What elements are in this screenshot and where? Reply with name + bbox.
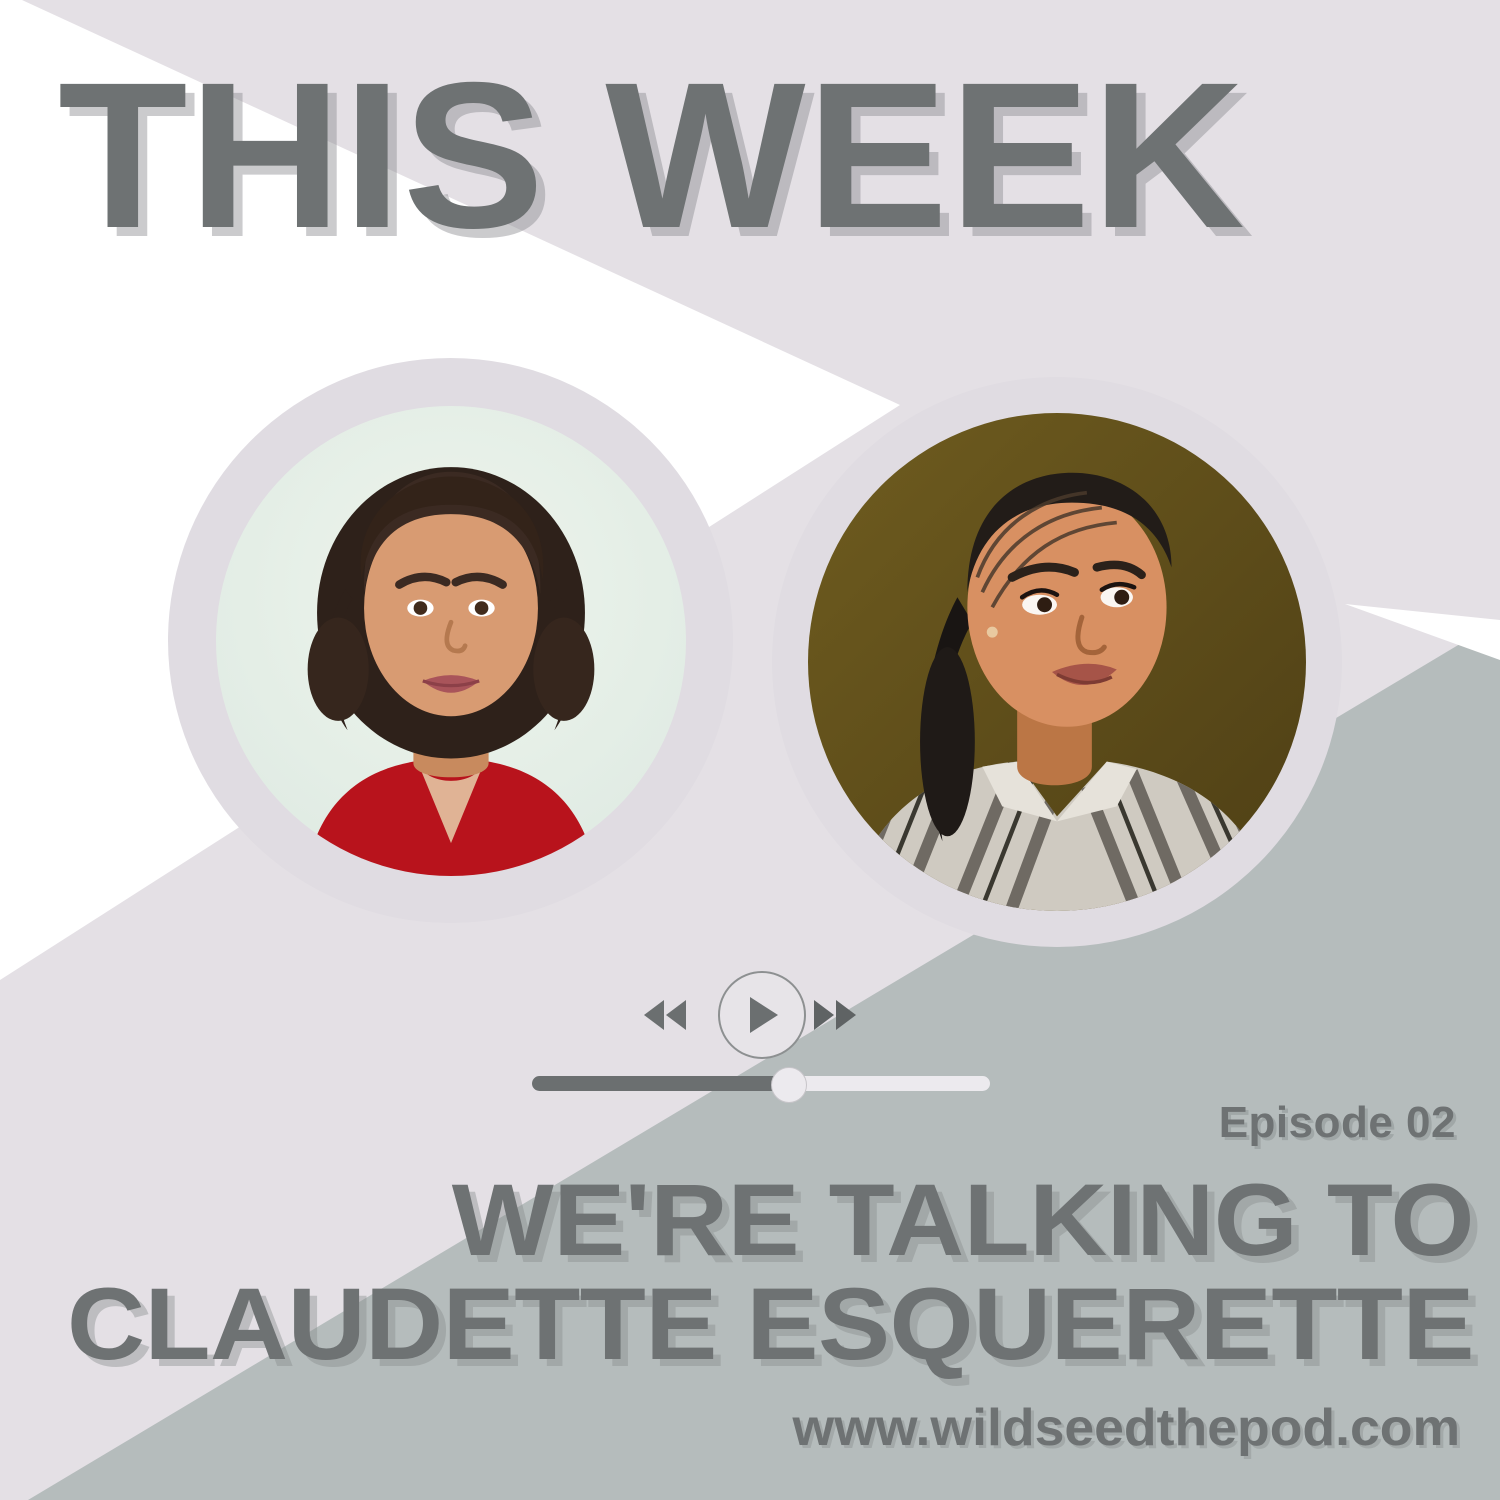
progress-bar[interactable] [532, 1076, 990, 1091]
episode-number: Episode 02 [1219, 1098, 1456, 1148]
progress-knob[interactable] [771, 1067, 807, 1103]
headline-line-2: CLAUDETTE ESQUERETTE [0, 1272, 1474, 1376]
page-title: THIS WEEK [58, 52, 1246, 260]
headline-line-1: WE'RE TALKING TO [0, 1168, 1474, 1272]
host-portrait-photo [216, 406, 686, 876]
rewind-icon[interactable] [640, 998, 692, 1032]
avatar [772, 377, 1342, 947]
progress-fill [532, 1076, 788, 1091]
avatar [168, 358, 733, 923]
website-url: www.wildseedthepod.com [792, 1398, 1460, 1458]
podcast-episode-poster: THIS WEEK [0, 0, 1500, 1500]
guest-portrait-photo [808, 413, 1306, 911]
fast-forward-icon[interactable] [808, 998, 860, 1032]
player-controls [640, 975, 860, 1055]
episode-headline: WE'RE TALKING TO CLAUDETTE ESQUERETTE [14, 1168, 1474, 1376]
play-icon [742, 994, 782, 1036]
play-button[interactable] [718, 971, 806, 1059]
